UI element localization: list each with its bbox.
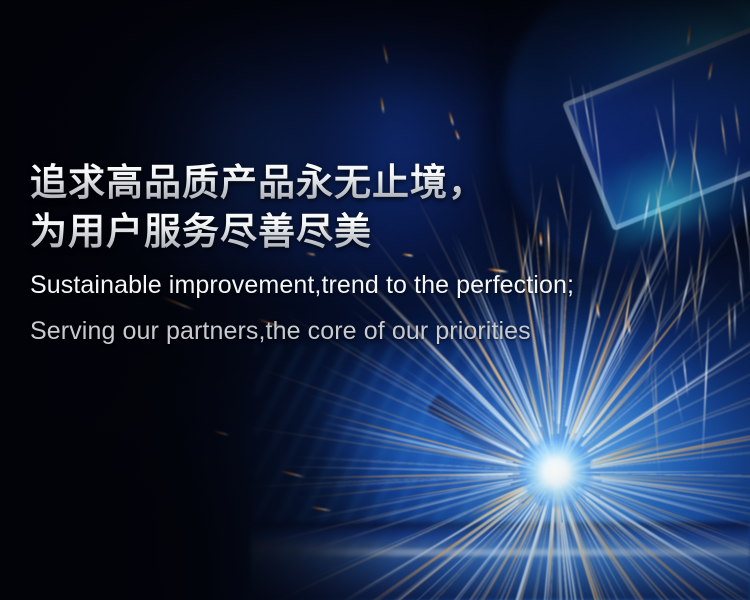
- headline-block: 追求高品质产品永无止境， 为用户服务尽善尽美: [30, 158, 574, 256]
- banner-copy: 追求高品质产品永无止境， 为用户服务尽善尽美 Sustainable impro…: [30, 158, 574, 348]
- welding-hero-banner: 追求高品质产品永无止境， 为用户服务尽善尽美 Sustainable impro…: [0, 0, 750, 600]
- subtitle-line-1: Sustainable improvement,trend to the per…: [30, 269, 574, 302]
- headline-line-1: 追求高品质产品永无止境，: [30, 158, 574, 207]
- subtitle-line-2: Serving our partners,the core of our pri…: [30, 315, 574, 348]
- headline-line-2: 为用户服务尽善尽美: [30, 207, 574, 256]
